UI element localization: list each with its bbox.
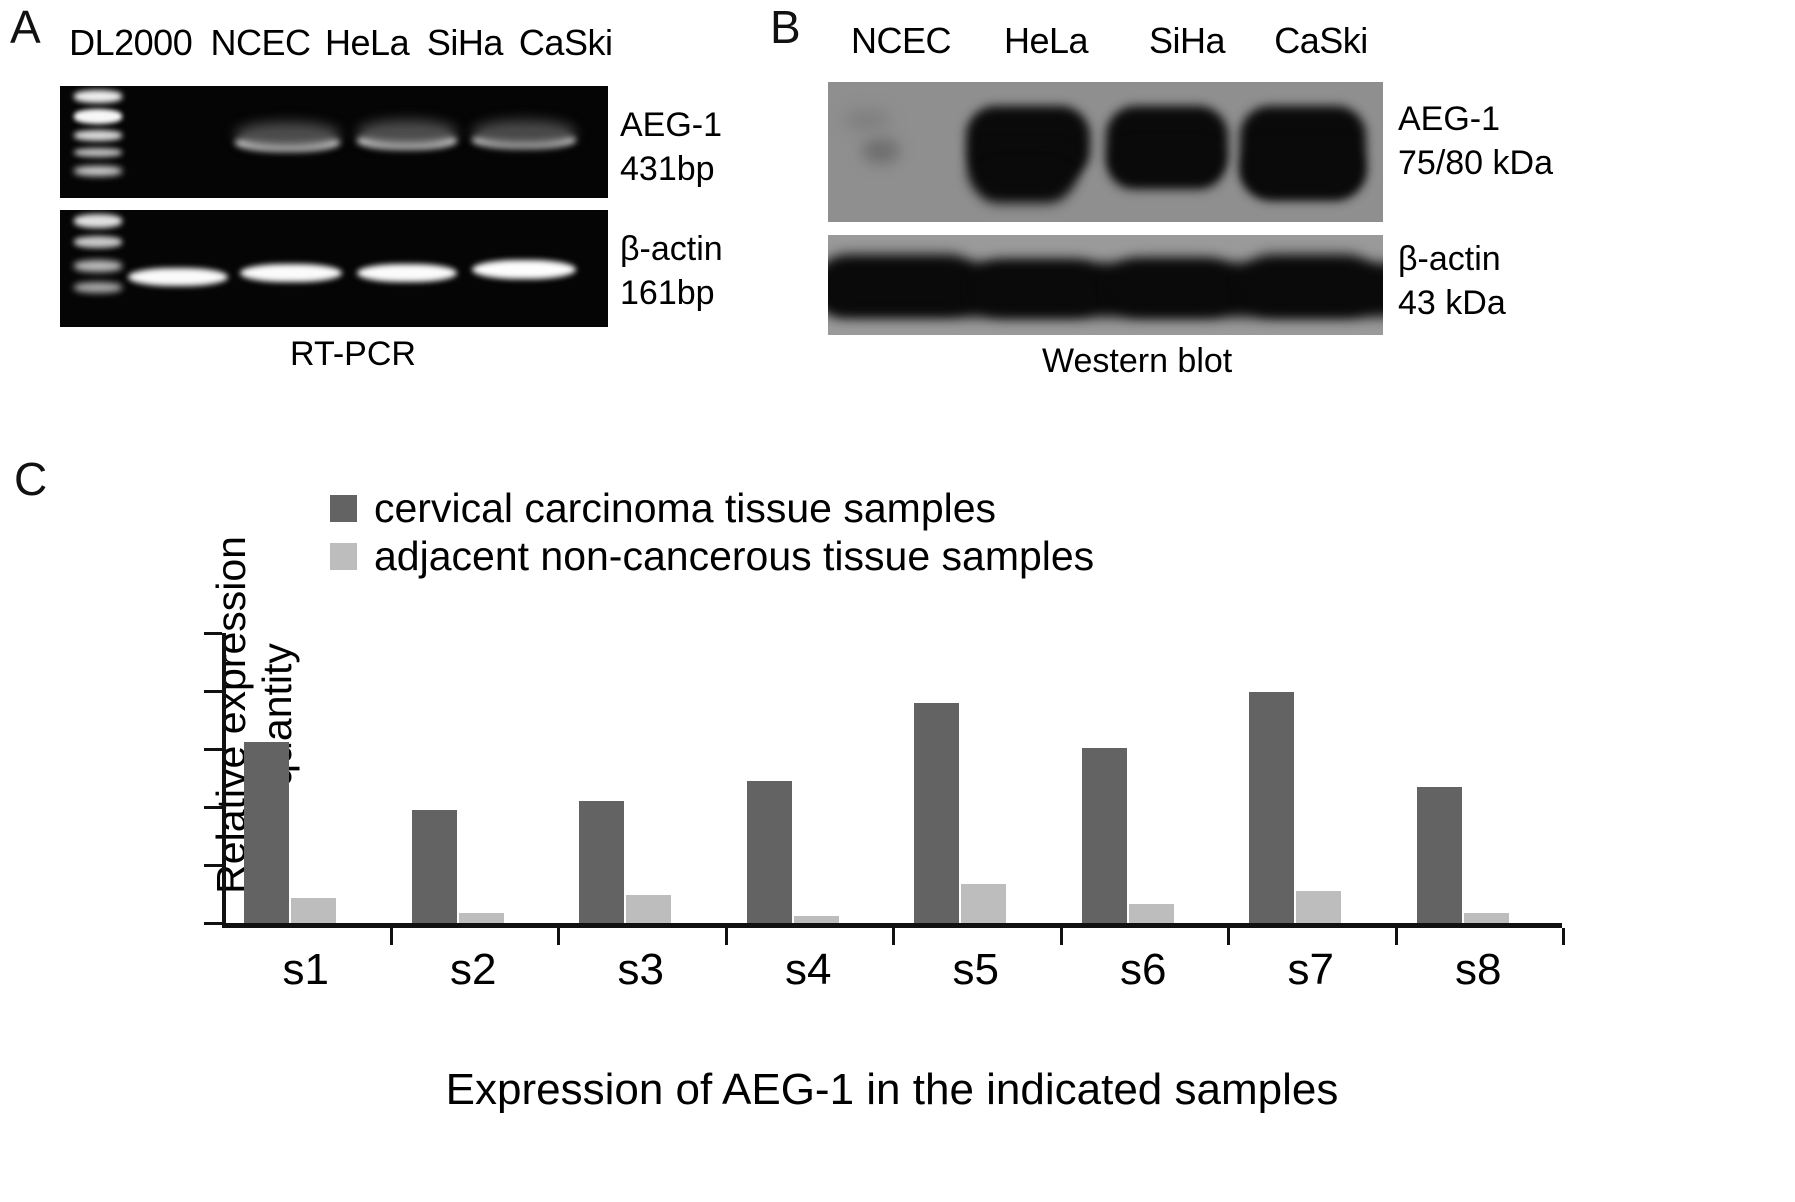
- x-axis-tick-label: s3: [557, 945, 725, 995]
- wb-lane-label-hela: HeLa: [974, 20, 1118, 62]
- chart-legend: cervical carcinoma tissue samples adjace…: [330, 485, 1094, 581]
- legend-swatch-icon-carcinoma: [330, 495, 357, 522]
- panel-c-bar-chart: C cervical carcinoma tissue samples adja…: [0, 440, 1795, 1202]
- wb-band-siha-aeg1-lower: [1110, 144, 1222, 188]
- panel-a-row1-label-line1: AEG-1: [620, 104, 722, 148]
- bar-s1-series1: [244, 742, 289, 923]
- blot-image-bactin: [828, 235, 1383, 335]
- bar-s7-series1: [1249, 692, 1294, 923]
- band-caski-aeg1-halo: [472, 120, 576, 146]
- bar-s4-series2: [794, 916, 839, 923]
- bar-s4-series1: [747, 781, 792, 923]
- bar-s6-series1: [1082, 748, 1127, 923]
- band-siha-aeg1-halo: [357, 120, 457, 146]
- x-axis-tick: [1395, 928, 1398, 945]
- x-axis-tick-label: s2: [390, 945, 558, 995]
- panel-b-row1-label: AEG-1 75/80 kDa: [1398, 98, 1553, 185]
- lane-label-caski: CaSki: [513, 22, 618, 64]
- x-axis-tick: [390, 928, 393, 945]
- bar-s8-series2: [1464, 913, 1509, 923]
- blot-image-aeg1: [828, 82, 1383, 222]
- lane-label-siha: SiHa: [416, 22, 513, 64]
- wb-lane-label-caski: CaSki: [1256, 20, 1386, 62]
- wb-band-ncec-bactin: [828, 255, 978, 313]
- y-axis-tick: [204, 632, 222, 635]
- bar-s5-series2: [961, 884, 1006, 923]
- band-siha-bactin: [357, 264, 457, 282]
- panel-a-lane-headers: DL2000 NCEC HeLa SiHa CaSki: [58, 22, 618, 64]
- bar-s3-series2: [626, 895, 671, 923]
- gel-image-bactin: [60, 210, 608, 327]
- x-axis-tick: [1562, 928, 1565, 945]
- panel-b-row2-label-line1: β-actin: [1398, 238, 1506, 282]
- wb-lane-label-siha: SiHa: [1118, 20, 1256, 62]
- bar-s2-series2: [459, 913, 504, 923]
- lane-label-ncec: NCEC: [203, 22, 317, 64]
- bar-s5-series1: [914, 703, 959, 923]
- bar-s8-series1: [1417, 787, 1462, 923]
- wb-band-hela-bactin: [974, 261, 1102, 315]
- y-axis-tick: [204, 690, 222, 693]
- legend-entry-adjacent: adjacent non-cancerous tissue samples: [330, 533, 1094, 581]
- x-axis-tick: [725, 928, 728, 945]
- panel-b-row2-label: β-actin 43 kDa: [1398, 238, 1506, 325]
- legend-label-adjacent: adjacent non-cancerous tissue samples: [374, 533, 1094, 581]
- panel-a-row2-label-line2: 161bp: [620, 272, 723, 316]
- bar-s2-series1: [412, 810, 457, 923]
- x-axis-tick: [892, 928, 895, 945]
- x-axis-tick-label: s6: [1060, 945, 1228, 995]
- wb-lane-label-ncec: NCEC: [828, 20, 974, 62]
- bar-s3-series1: [579, 801, 624, 923]
- panel-a-letter: A: [10, 4, 41, 50]
- panel-a-caption: RT-PCR: [290, 335, 416, 374]
- band-hela-aeg1-halo: [235, 122, 340, 148]
- y-axis-tick: [204, 748, 222, 751]
- lane-label-dl2000: DL2000: [58, 22, 203, 64]
- panel-a-row1-label-line2: 431bp: [620, 148, 722, 192]
- x-axis-tick: [1060, 928, 1063, 945]
- wb-band-caski-aeg1-lower: [1244, 142, 1362, 198]
- x-axis-title: Expression of AEG-1 in the indicated sam…: [222, 1065, 1562, 1115]
- legend-swatch-icon-adjacent: [330, 543, 357, 570]
- wb-band-hela-aeg1-tail: [980, 168, 1066, 202]
- faint-band-ncec: [862, 138, 900, 164]
- panel-c-letter: C: [14, 456, 47, 502]
- y-axis-tick: [204, 922, 222, 925]
- panel-b-western-blot: B NCEC HeLa SiHa CaSki AEG-1 75/80 kDa β…: [760, 0, 1795, 395]
- panel-b-caption: Western blot: [1042, 342, 1232, 381]
- band-hela-bactin: [240, 264, 342, 282]
- panel-a-row2-label-line1: β-actin: [620, 228, 723, 272]
- bar-s7-series2: [1296, 891, 1341, 923]
- panel-b-row1-label-line1: AEG-1: [1398, 98, 1553, 142]
- faint-band-ncec-upper: [844, 110, 890, 130]
- panel-b-row2-label-line2: 43 kDa: [1398, 282, 1506, 326]
- band-ncec-bactin: [128, 268, 228, 286]
- dna-ladder-lower: [74, 210, 122, 327]
- legend-entry-carcinoma: cervical carcinoma tissue samples: [330, 485, 1094, 533]
- panel-b-row1-label-line2: 75/80 kDa: [1398, 142, 1553, 186]
- chart-plot-area: Relative expression quantity 00.40.81.21…: [222, 633, 1562, 923]
- y-axis-tick: [204, 864, 222, 867]
- band-caski-bactin: [472, 260, 576, 279]
- wb-band-caski-bactin: [1242, 255, 1376, 315]
- panel-a-row2-label: β-actin 161bp: [620, 228, 723, 315]
- x-axis-tick: [1227, 928, 1230, 945]
- y-axis-tick: [204, 806, 222, 809]
- y-axis-line: [222, 633, 226, 925]
- panel-a-rt-pcr: A DL2000 NCEC HeLa SiHa CaSki: [0, 0, 760, 395]
- x-axis-tick-label: s5: [892, 945, 1060, 995]
- dna-ladder: [74, 86, 122, 198]
- x-axis-tick-label: s4: [725, 945, 893, 995]
- bar-s6-series2: [1129, 904, 1174, 923]
- bar-s1-series2: [291, 898, 336, 923]
- legend-label-carcinoma: cervical carcinoma tissue samples: [374, 485, 996, 533]
- panel-a-row1-label: AEG-1 431bp: [620, 104, 722, 191]
- x-axis-tick: [557, 928, 560, 945]
- x-axis-tick-label: s8: [1395, 945, 1563, 995]
- x-axis-tick-label: s1: [222, 945, 390, 995]
- x-axis-tick-label: s7: [1227, 945, 1395, 995]
- gel-image-aeg1: [60, 86, 608, 198]
- wb-band-siha-bactin: [1110, 259, 1236, 315]
- lane-label-hela: HeLa: [318, 22, 417, 64]
- panel-b-lane-headers: NCEC HeLa SiHa CaSki: [828, 20, 1388, 62]
- panel-b-letter: B: [770, 4, 801, 50]
